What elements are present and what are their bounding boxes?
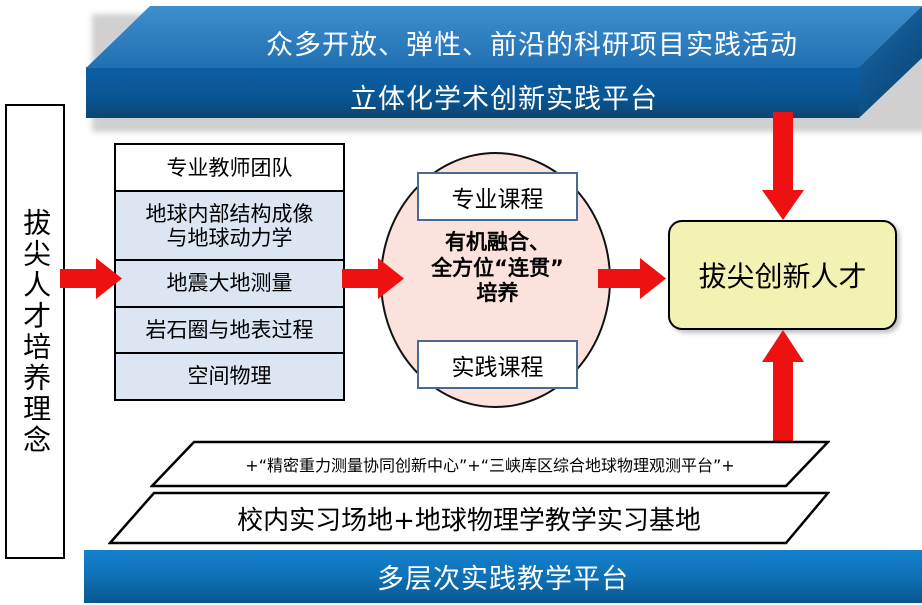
table-row: 地震大地测量 [116, 261, 343, 307]
top-banner-line1: 众多开放、弹性、前沿的科研项目实践活动 [114, 23, 922, 62]
concept-box: 拔尖人才培养理念 [5, 104, 65, 559]
fusion-text: 有机融合、 全方位“连贯” 培养 [388, 230, 607, 307]
top-platform-banner: 众多开放、弹性、前沿的科研项目实践活动 立体化学术创新实践平台 [86, 6, 922, 124]
concept-label: 拔尖人才培养理念 [7, 106, 63, 557]
table-row: 空间物理 [116, 354, 343, 399]
professional-course-box: 专业课程 [417, 172, 578, 221]
curriculum-circle: 专业课程 有机融合、 全方位“连贯” 培养 实践课程 [380, 152, 611, 408]
arrow-right-icon [60, 258, 122, 299]
bottom-platform-banner: 多层次实践教学平台 [84, 550, 922, 603]
upper-trapezoid-label: +“精密重力测量协同创新中心”+“三峡库区综合地球物理观测平台”+ [150, 440, 830, 488]
diagram-canvas: 拔尖人才培养理念 众多开放、弹性、前沿的科研项目实践活动 立体化学术创新实践平台… [0, 0, 922, 605]
table-row: 地球内部结构成像 与地球动力学 [116, 192, 343, 261]
table-row: 岩石圈与地表过程 [116, 308, 343, 354]
table-row: 专业教师团队 [116, 145, 343, 192]
arrow-up-icon [762, 330, 804, 444]
faculty-table: 专业教师团队 地球内部结构成像 与地球动力学 地震大地测量 岩石圈与地表过程 空… [114, 143, 345, 401]
practical-course-box: 实践课程 [417, 340, 578, 389]
result-box: 拔尖创新人才 [668, 220, 897, 330]
top-banner-line2: 立体化学术创新实践平台 [86, 77, 922, 116]
lower-trapezoid: 校内实习场地+地球物理学教学实习基地 [108, 491, 830, 545]
upper-trapezoid: +“精密重力测量协同创新中心”+“三峡库区综合地球物理观测平台”+ [150, 440, 830, 488]
lower-trapezoid-label: 校内实习场地+地球物理学教学实习基地 [108, 491, 830, 545]
